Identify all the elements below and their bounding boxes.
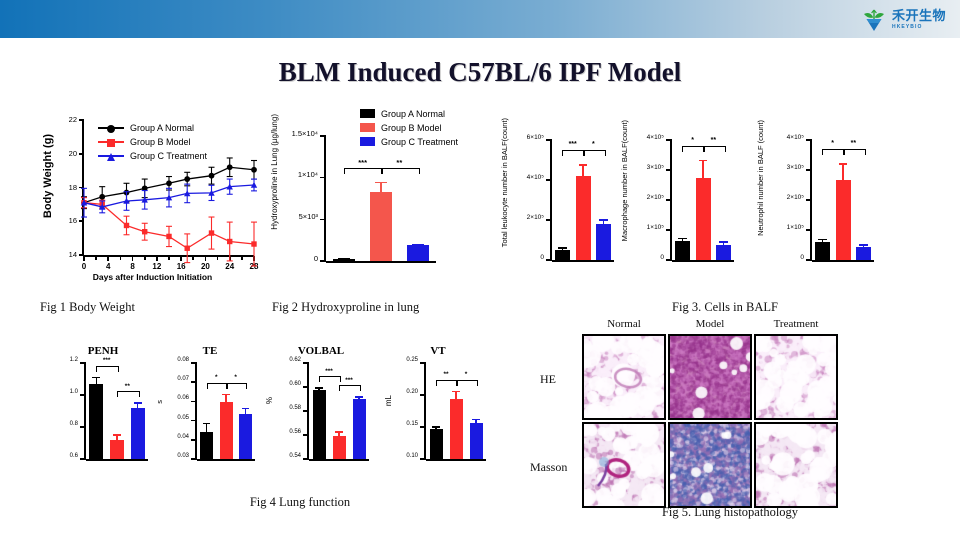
axis-tick-label: 0 — [314, 254, 318, 263]
x-axis-line — [552, 260, 614, 262]
y-axis-tickmark — [303, 434, 309, 436]
y-axis-line — [84, 363, 86, 460]
error-cap-2 — [134, 402, 142, 404]
axis-tick-label: 18 — [69, 183, 77, 192]
fig4a-panel-title: PENH — [48, 345, 158, 357]
y-axis-tickmark — [420, 426, 426, 428]
axis-tick-label: 2×10⁵ — [527, 214, 544, 221]
legend-item-group-a: Group A Normal — [360, 108, 458, 119]
histology-image-masson-normal[interactable] — [582, 422, 666, 508]
y-axis-tickmark — [191, 439, 197, 441]
axis-tick-label: 0.8 — [70, 421, 78, 427]
axis-tick-label: 0 — [82, 262, 86, 271]
x-axis-line — [326, 261, 436, 263]
error-cap-1 — [452, 391, 459, 393]
significance-label-0: * — [682, 137, 703, 144]
legend-label-group-b: Group B Model — [381, 123, 442, 133]
y-axis-tickmark — [191, 420, 197, 422]
y-axis-tickmark — [806, 139, 812, 141]
axis-tick-label: 2×10⁵ — [787, 194, 804, 201]
fig2-caption: Fig 2 Hydroxyproline in lung — [272, 300, 492, 315]
y-axis-tickmark — [191, 381, 197, 383]
significance-bracket-0 — [562, 150, 585, 156]
error-bar-1 — [842, 163, 844, 180]
axis-tick-label: 1×10⁵ — [647, 224, 664, 231]
bar-1 — [836, 180, 851, 260]
legend-swatch-group-a — [360, 109, 375, 118]
bar-1 — [576, 176, 591, 260]
axis-tick-label: 0.07 — [177, 376, 189, 382]
axis-tick-label: 0.15 — [406, 421, 418, 427]
legend-label-group-c: Group C Treatment — [130, 151, 207, 161]
significance-bracket-1 — [117, 391, 140, 397]
axis-tick-label: 0 — [540, 254, 544, 261]
axis-tick-label: 5×10³ — [299, 212, 318, 221]
x-axis-tickmark — [192, 256, 194, 260]
x-axis-line — [86, 459, 148, 461]
fig4-penh-chart: PENH 0.60.81.01.2***** — [48, 345, 158, 475]
bar-1 — [110, 440, 124, 459]
significance-bracket-1 — [583, 150, 606, 156]
y-axis-tickmark — [420, 458, 426, 460]
y-axis-tickmark — [191, 458, 197, 460]
bar-0 — [313, 390, 326, 459]
legend-swatch-group-b — [360, 123, 375, 132]
axis-tick-label: 20 — [201, 262, 210, 271]
fig4-te-chart: TE s 0.030.040.050.060.070.08** — [155, 345, 265, 475]
fig5-histopathology: Normal Model Treatment HE Masson — [530, 318, 860, 508]
error-cap-0 — [338, 258, 350, 260]
x-axis-line — [197, 459, 255, 461]
significance-label-1: * — [226, 374, 245, 381]
axis-tick-label: 14 — [69, 250, 77, 259]
error-cap-1 — [699, 160, 707, 162]
x-axis-tickmark — [241, 256, 243, 260]
bar-2 — [596, 224, 611, 260]
fig3c-y-axis-label: Neutrophil number in BALF (count) — [756, 120, 765, 236]
x-axis-tickmark — [132, 256, 134, 261]
legend-label-group-a: Group A Normal — [381, 109, 445, 119]
legend-label-group-b: Group B Model — [130, 137, 191, 147]
axis-tick-label: 0.60 — [289, 381, 301, 387]
error-cap-1 — [113, 434, 121, 436]
fig4a-plot-area: 0.60.81.01.2***** — [86, 363, 148, 459]
axis-tick-label: 0.6 — [70, 453, 78, 459]
axis-tick-label: 22 — [69, 115, 77, 124]
company-logo: 禾开生物 HKEYBIO — [861, 6, 946, 34]
logo-leaf-diamond-icon — [861, 7, 887, 33]
fig2-plot-area: 05×10³1×10⁴1.5×10⁴***** — [326, 136, 436, 261]
legend-line-marker-square-icon — [98, 137, 124, 147]
bar-2 — [131, 408, 145, 459]
bar-0 — [675, 241, 690, 260]
axis-tick-label: 4 — [106, 262, 110, 271]
significance-bracket-0 — [822, 149, 845, 155]
axis-tick-label: 16 — [69, 216, 77, 225]
significance-bracket-0 — [682, 146, 705, 152]
x-axis-tickmark — [180, 256, 182, 261]
fig4d-plot-area: 0.100.150.200.25*** — [426, 363, 486, 459]
bar-1 — [696, 178, 711, 261]
bar-0 — [815, 242, 830, 260]
y-axis-tickmark — [320, 177, 326, 179]
y-axis-tickmark — [191, 401, 197, 403]
axis-tick-label: 1×10⁴ — [298, 170, 318, 179]
error-cap-1 — [222, 394, 229, 396]
error-cap-0 — [558, 247, 566, 249]
fig1-caption: Fig 1 Body Weight — [40, 300, 240, 315]
error-cap-0 — [432, 426, 439, 428]
axis-tick-label: 0.20 — [406, 389, 418, 395]
error-cap-1 — [375, 182, 387, 184]
x-axis-line — [309, 459, 369, 461]
error-cap-2 — [242, 408, 249, 410]
significance-label-0: *** — [344, 158, 381, 167]
significance-bracket-0 — [96, 366, 119, 372]
significance-bracket-0 — [344, 168, 383, 174]
y-axis-tickmark — [80, 362, 86, 364]
header-band — [0, 0, 960, 38]
y-axis-tickmark — [806, 199, 812, 201]
axis-tick-label: 0.06 — [177, 395, 189, 401]
legend-item-group-c: Group C Treatment — [98, 150, 207, 161]
error-bar-1 — [702, 160, 704, 178]
y-axis-tickmark — [80, 426, 86, 428]
axis-tick-label: 3×10⁵ — [647, 164, 664, 171]
error-bar-1 — [582, 164, 584, 176]
bar-0 — [430, 429, 443, 459]
significance-bracket-1 — [703, 146, 726, 152]
significance-bracket-0 — [436, 380, 458, 386]
axis-tick-label: 24 — [225, 262, 234, 271]
fig4c-y-axis-label: % — [265, 397, 274, 404]
fig4-volbal-chart: VOLBAL % 0.540.560.580.600.62****** — [265, 345, 377, 475]
y-axis-tickmark — [420, 362, 426, 364]
fig4b-y-axis-label: s — [155, 400, 164, 404]
bar-2 — [353, 399, 366, 459]
bar-2 — [407, 245, 429, 261]
error-cap-2 — [719, 241, 727, 243]
axis-tick-label: 1.5×10⁴ — [292, 129, 318, 138]
fig1-body-weight-chart: Body Weight (g) 14161820220481216202428 … — [40, 112, 265, 292]
axis-tick-label: 0 — [660, 254, 664, 261]
bar-1 — [220, 402, 233, 459]
y-axis-line — [550, 140, 552, 261]
significance-bracket-0 — [319, 376, 341, 382]
axis-tick-label: 0.05 — [177, 415, 189, 421]
significance-label-1: ** — [381, 158, 418, 167]
x-axis-tickmark — [156, 256, 158, 261]
histology-image-masson-treatment[interactable] — [754, 422, 838, 508]
bar-2 — [239, 414, 252, 459]
y-axis-tickmark — [80, 458, 86, 460]
x-axis-line — [426, 459, 486, 461]
legend-label-group-c: Group C Treatment — [381, 137, 458, 147]
y-axis-line — [324, 136, 326, 262]
legend-line-marker-triangle-icon — [98, 151, 124, 161]
significance-label-1: ** — [843, 140, 864, 147]
y-axis-tickmark — [666, 229, 672, 231]
legend-item-group-b: Group B Model — [98, 136, 207, 147]
y-axis-tickmark — [303, 386, 309, 388]
axis-tick-label: 1.2 — [70, 357, 78, 363]
fig4c-panel-title: VOLBAL — [265, 345, 377, 357]
axis-tick-label: 0.03 — [177, 453, 189, 459]
fig4b-panel-title: TE — [155, 345, 265, 357]
y-axis-tickmark — [546, 139, 552, 141]
y-axis-tickmark — [546, 219, 552, 221]
legend-line-marker-circle-icon — [98, 123, 124, 133]
bar-0 — [200, 432, 213, 459]
error-cap-1 — [839, 163, 847, 165]
histology-column-label-normal: Normal — [582, 318, 666, 330]
legend-item-group-c: Group C Treatment — [360, 136, 458, 147]
significance-bracket-1 — [381, 168, 420, 174]
axis-tick-label: 2×10⁵ — [647, 194, 664, 201]
bar-0 — [555, 250, 570, 260]
axis-tick-label: 4×10⁵ — [787, 134, 804, 141]
significance-label-0: ** — [436, 371, 456, 378]
x-axis-tickmark — [217, 256, 219, 260]
y-axis-tickmark — [420, 394, 426, 396]
fig4d-panel-title: VT — [382, 345, 494, 357]
significance-bracket-1 — [226, 383, 247, 389]
legend-swatch-group-c — [360, 137, 375, 146]
logo-text-en: HKEYBIO — [892, 25, 946, 30]
y-axis-tickmark — [806, 259, 812, 261]
logo-text-cn: 禾开生物 — [892, 10, 946, 23]
y-axis-tickmark — [546, 179, 552, 181]
error-bar-1 — [380, 182, 382, 192]
histology-column-label-treatment: Treatment — [754, 318, 838, 330]
y-axis-tickmark — [303, 458, 309, 460]
y-axis-tickmark — [303, 410, 309, 412]
error-cap-2 — [472, 419, 479, 421]
histology-image-he-normal[interactable] — [582, 334, 666, 420]
x-axis-line — [812, 260, 874, 262]
significance-bracket-1 — [843, 149, 866, 155]
significance-bracket-1 — [339, 385, 361, 391]
fig2-legend: Group A Normal Group B Model Group C Tre… — [360, 108, 458, 150]
error-cap-0 — [92, 377, 100, 379]
axis-tick-label: 20 — [69, 149, 77, 158]
significance-label-0: *** — [319, 368, 339, 375]
y-axis-tickmark — [320, 135, 326, 137]
x-axis-tickmark — [95, 256, 97, 260]
error-cap-2 — [412, 244, 424, 246]
fig3-neutrophil-chart: Neutrophil number in BALF (count) 01×10⁵… — [756, 118, 880, 288]
fig2-hydroxyproline-chart: Hydroxyproline in Lung (µg/lung) 05×10³1… — [268, 108, 483, 288]
y-axis-tickmark — [320, 260, 326, 262]
x-axis-tickmark — [107, 256, 109, 261]
error-cap-0 — [818, 239, 826, 241]
axis-tick-label: 0.08 — [177, 357, 189, 363]
significance-label-1: ** — [703, 137, 724, 144]
x-axis-tickmark — [120, 256, 122, 260]
error-cap-0 — [315, 387, 322, 389]
page-title: BLM Induced C57BL/6 IPF Model — [0, 57, 960, 88]
error-cap-2 — [859, 244, 867, 246]
fig4c-plot-area: 0.540.560.580.600.62****** — [309, 363, 369, 459]
histology-image-grid — [582, 334, 838, 508]
axis-tick-label: 0.58 — [289, 405, 301, 411]
histology-image-he-treatment[interactable] — [754, 334, 838, 420]
fig3-macrophage-chart: Macrophage number in BALF(count) 01×10⁵2… — [620, 118, 738, 288]
legend-label-group-a: Group A Normal — [130, 123, 194, 133]
histology-row-label-masson: Masson — [530, 460, 567, 475]
axis-tick-label: 0.56 — [289, 429, 301, 435]
x-axis-tickmark — [144, 256, 146, 260]
histology-image-he-model[interactable] — [668, 334, 752, 420]
fig2-y-axis-label: Hydroxyproline in Lung (µg/lung) — [270, 114, 279, 230]
axis-tick-label: 0.25 — [406, 357, 418, 363]
significance-bracket-0 — [207, 383, 228, 389]
bar-2 — [856, 247, 871, 260]
y-axis-line — [195, 363, 197, 460]
error-cap-2 — [599, 219, 607, 221]
error-cap-0 — [203, 423, 210, 425]
bar-0 — [89, 384, 103, 459]
axis-tick-label: 0.54 — [289, 453, 301, 459]
fig4d-y-axis-label: mL — [384, 395, 393, 406]
fig3-total-leukocyte-chart: Total leukocyte number in BALF(count) 02… — [500, 118, 618, 288]
axis-tick-label: 4×10⁵ — [647, 134, 664, 141]
axis-tick-label: 1×10⁵ — [787, 224, 804, 231]
y-axis-tickmark — [303, 362, 309, 364]
y-axis-line — [424, 363, 426, 460]
y-axis-tickmark — [666, 139, 672, 141]
legend-item-group-b: Group B Model — [360, 122, 458, 133]
significance-label-1: *** — [339, 377, 359, 384]
axis-tick-label: 0.62 — [289, 357, 301, 363]
bar-2 — [716, 245, 731, 260]
significance-label-0: * — [207, 374, 226, 381]
error-cap-2 — [355, 396, 362, 398]
fig3-caption: Fig 3. Cells in BALF — [600, 300, 850, 315]
error-cap-1 — [579, 164, 587, 166]
fig3c-plot-area: 01×10⁵2×10⁵3×10⁵4×10⁵*** — [812, 140, 874, 260]
histology-row-label-he: HE — [540, 372, 556, 387]
axis-tick-label: 8 — [130, 262, 134, 271]
significance-label-1: * — [456, 371, 476, 378]
bar-1 — [450, 399, 463, 459]
significance-label-0: *** — [562, 141, 583, 148]
significance-bracket-1 — [456, 380, 478, 386]
axis-tick-label: 3×10⁵ — [787, 164, 804, 171]
y-axis-tickmark — [806, 169, 812, 171]
error-cap-1 — [335, 431, 342, 433]
fig1-x-axis-label: Days after Induction Initiation — [40, 272, 265, 282]
histology-image-masson-model[interactable] — [668, 422, 752, 508]
bar-1 — [333, 436, 346, 459]
y-axis-tickmark — [546, 259, 552, 261]
axis-tick-label: 12 — [152, 262, 161, 271]
fig1-legend: Group A Normal Group B Model Group C Tre… — [98, 122, 207, 164]
fig4-caption: Fig 4 Lung function — [180, 495, 420, 510]
y-axis-tickmark — [666, 259, 672, 261]
fig3b-plot-area: 01×10⁵2×10⁵3×10⁵4×10⁵*** — [672, 140, 734, 260]
axis-tick-label: 0.10 — [406, 453, 418, 459]
y-axis-tickmark — [666, 169, 672, 171]
axis-tick-label: 1.0 — [70, 389, 78, 395]
significance-label-1: * — [583, 141, 604, 148]
fig4b-plot-area: 0.030.040.050.060.070.08** — [197, 363, 255, 459]
x-axis-line — [672, 260, 734, 262]
bar-2 — [470, 423, 483, 459]
significance-label-0: * — [822, 140, 843, 147]
y-axis-tickmark — [191, 362, 197, 364]
x-axis-tickmark — [205, 256, 207, 261]
significance-label-0: *** — [96, 357, 117, 364]
y-axis-tickmark — [806, 229, 812, 231]
axis-tick-label: 0.04 — [177, 434, 189, 440]
legend-item-group-a: Group A Normal — [98, 122, 207, 133]
axis-tick-label: 6×10⁵ — [527, 134, 544, 141]
fig5-caption: Fig 5. Lung histopathology — [600, 505, 860, 520]
x-axis-tickmark — [168, 256, 170, 260]
axis-tick-label: 4×10⁵ — [527, 174, 544, 181]
axis-tick-label: 16 — [177, 262, 186, 271]
axis-tick-label: 0 — [800, 254, 804, 261]
histology-column-label-model: Model — [668, 318, 752, 330]
fig3a-plot-area: 02×10⁵4×10⁵6×10⁵**** — [552, 140, 614, 260]
y-axis-tickmark — [666, 199, 672, 201]
fig4-vt-chart: VT mL 0.100.150.200.25*** — [382, 345, 494, 475]
fig3b-y-axis-label: Macrophage number in BALF(count) — [620, 120, 629, 241]
y-axis-tickmark — [80, 394, 86, 396]
y-axis-tickmark — [320, 219, 326, 221]
x-axis-tickmark — [83, 256, 85, 261]
bar-1 — [370, 192, 392, 261]
error-cap-0 — [678, 238, 686, 240]
fig1-y-axis-label: Body Weight (g) — [42, 134, 54, 218]
significance-label-1: ** — [117, 383, 138, 390]
fig3a-y-axis-label: Total leukocyte number in BALF(count) — [500, 118, 509, 247]
